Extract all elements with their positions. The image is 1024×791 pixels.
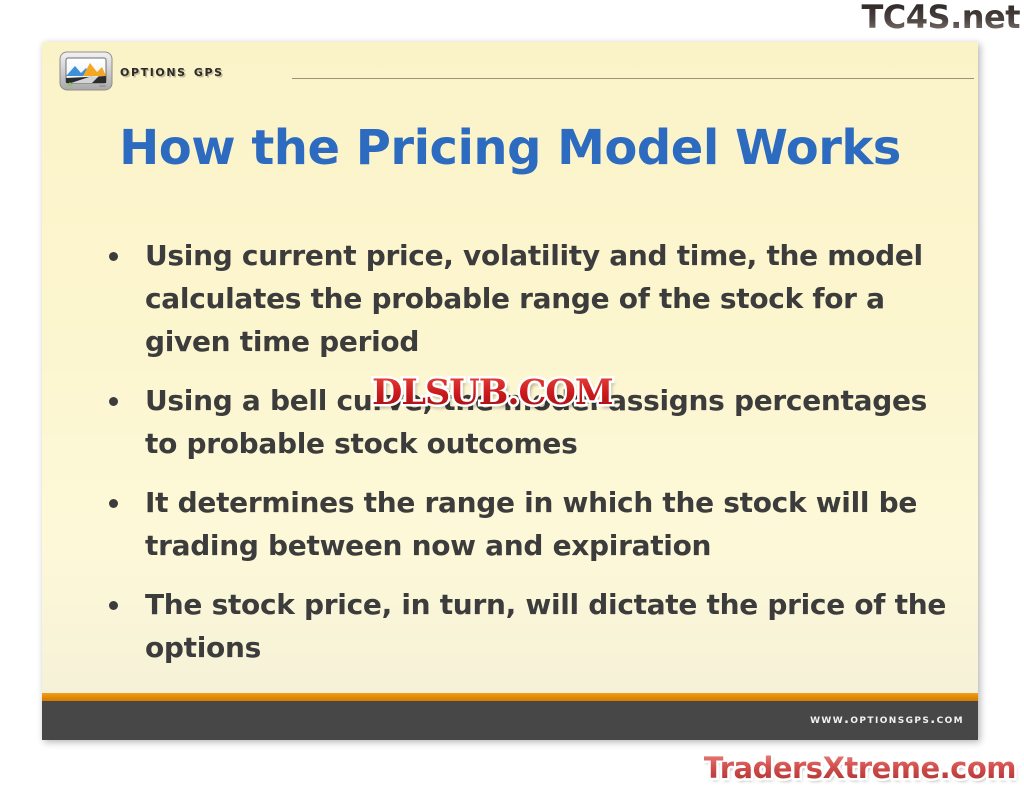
dlsub-watermark: DLSUB.COM DLSUB.COM xyxy=(372,374,613,412)
list-item: It determines the range in which the sto… xyxy=(97,481,957,567)
bullet-dot-icon xyxy=(109,397,118,406)
footer-url: www.OptionsGPS.com xyxy=(810,712,964,727)
list-item: Using current price, volatility and time… xyxy=(97,234,957,363)
tradersxtreme-watermark: TradersXtreme.com TradersXtreme.com xyxy=(704,751,1016,785)
bullet-dot-icon xyxy=(109,252,118,261)
list-item-text: Using current price, volatility and time… xyxy=(145,234,957,363)
tradersxtreme-fill: TradersXtreme.com xyxy=(704,751,1016,785)
list-item-text: It determines the range in which the sto… xyxy=(145,481,957,567)
list-item: The stock price, in turn, will dictate t… xyxy=(97,583,957,669)
header-divider xyxy=(292,78,974,79)
bullet-list: Using current price, volatility and time… xyxy=(97,234,957,685)
list-item-text: The stock price, in turn, will dictate t… xyxy=(145,583,957,669)
tc4s-watermark: TC4S.net xyxy=(861,0,1020,36)
brand-label: Options GPS xyxy=(120,61,224,80)
page-title: How the Pricing Model Works xyxy=(42,120,978,176)
bullet-dot-icon xyxy=(109,499,118,508)
dlsub-watermark-fill: DLSUB.COM xyxy=(372,374,613,412)
presentation-slide: Options GPS How the Pricing Model Works … xyxy=(42,42,978,740)
footer-accent-stripe xyxy=(42,693,978,701)
gps-device-icon xyxy=(59,50,115,96)
slide-header: Options GPS xyxy=(42,42,978,102)
slide-footer: www.OptionsGPS.com xyxy=(42,701,978,740)
bullet-dot-icon xyxy=(109,601,118,610)
